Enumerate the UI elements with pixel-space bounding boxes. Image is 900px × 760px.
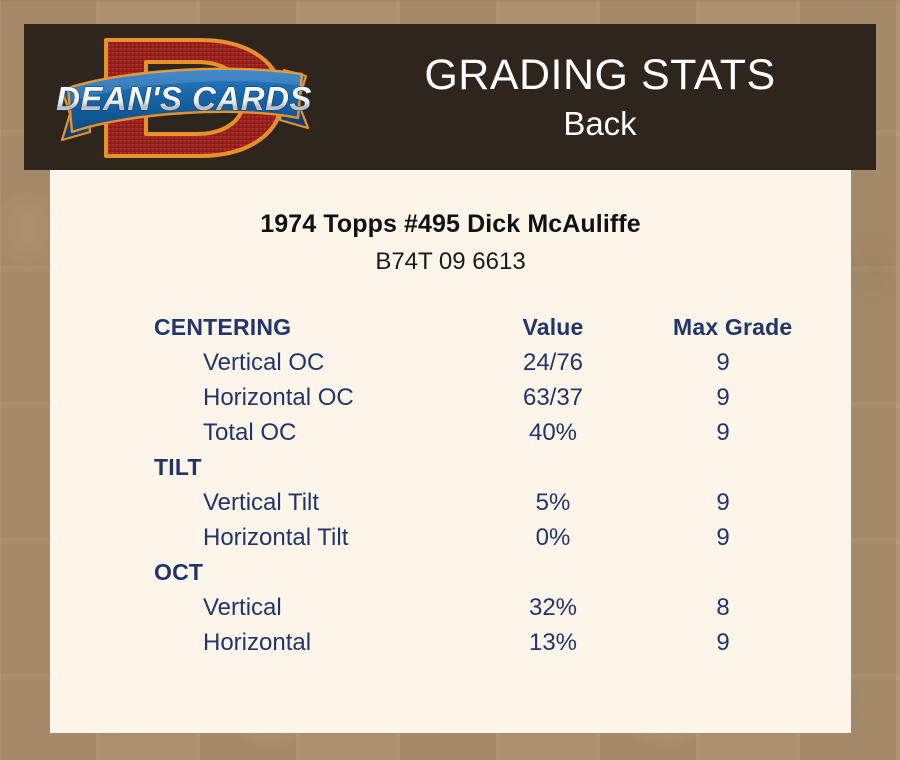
section-label: CENTERING [154, 310, 291, 345]
stats-row: Horizontal OC63/379 [154, 380, 844, 415]
stat-max-grade: 9 [673, 625, 773, 660]
value-column-header: Value [503, 310, 603, 345]
stat-max-grade: 9 [673, 485, 773, 520]
stats-row: Horizontal13%9 [154, 625, 844, 660]
card-title: 1974 Topps #495 Dick McAuliffe [50, 210, 851, 239]
stats-row: Vertical32%8 [154, 590, 844, 625]
stat-max-grade: 9 [673, 520, 773, 555]
deans-cards-logo[interactable]: DEAN'S CARDS [50, 28, 318, 168]
stats-row: Horizontal Tilt0%9 [154, 520, 844, 555]
stats-row: Vertical OC24/769 [154, 345, 844, 380]
stat-max-grade: 9 [673, 380, 773, 415]
card-serial-number: B74T 09 6613 [50, 248, 851, 276]
stats-row: Vertical Tilt5%9 [154, 485, 844, 520]
section-label: TILT [154, 450, 202, 485]
page-subtitle: Back [563, 103, 636, 145]
stats-row: Total OC40%9 [154, 415, 844, 450]
stat-value: 32% [503, 590, 603, 625]
stat-value: 63/37 [503, 380, 603, 415]
stats-section-header: CENTERINGValueMax Grade [154, 310, 844, 345]
page-title: GRADING STATS [424, 49, 775, 101]
stat-label: Horizontal [203, 625, 311, 660]
max-grade-column-header: Max Grade [673, 310, 773, 345]
stat-value: 13% [503, 625, 603, 660]
grading-stats-table: CENTERINGValueMax GradeVertical OC24/769… [154, 310, 844, 660]
stat-value: 24/76 [503, 345, 603, 380]
stat-max-grade: 9 [673, 415, 773, 450]
stat-label: Vertical OC [203, 345, 324, 380]
stat-label: Horizontal Tilt [203, 520, 348, 555]
section-label: OCT [154, 555, 203, 590]
stat-label: Horizontal OC [203, 380, 354, 415]
logo-banner-text: DEAN'S CARDS [56, 80, 312, 117]
stat-value: 40% [503, 415, 603, 450]
header-bar: DEAN'S CARDS GRADING STATS Back [24, 24, 876, 170]
stat-value: 5% [503, 485, 603, 520]
stat-max-grade: 8 [673, 590, 773, 625]
stat-label: Vertical [203, 590, 282, 625]
stat-value: 0% [503, 520, 603, 555]
header-title-group: GRADING STATS Back [324, 24, 876, 170]
stat-label: Total OC [203, 415, 296, 450]
logo-graphic: DEAN'S CARDS [50, 28, 318, 168]
stat-label: Vertical Tilt [203, 485, 319, 520]
stats-section-header: OCT [154, 555, 844, 590]
stat-max-grade: 9 [673, 345, 773, 380]
content-panel: 1974 Topps #495 Dick McAuliffe B74T 09 6… [50, 170, 851, 733]
stats-section-header: TILT [154, 450, 844, 485]
